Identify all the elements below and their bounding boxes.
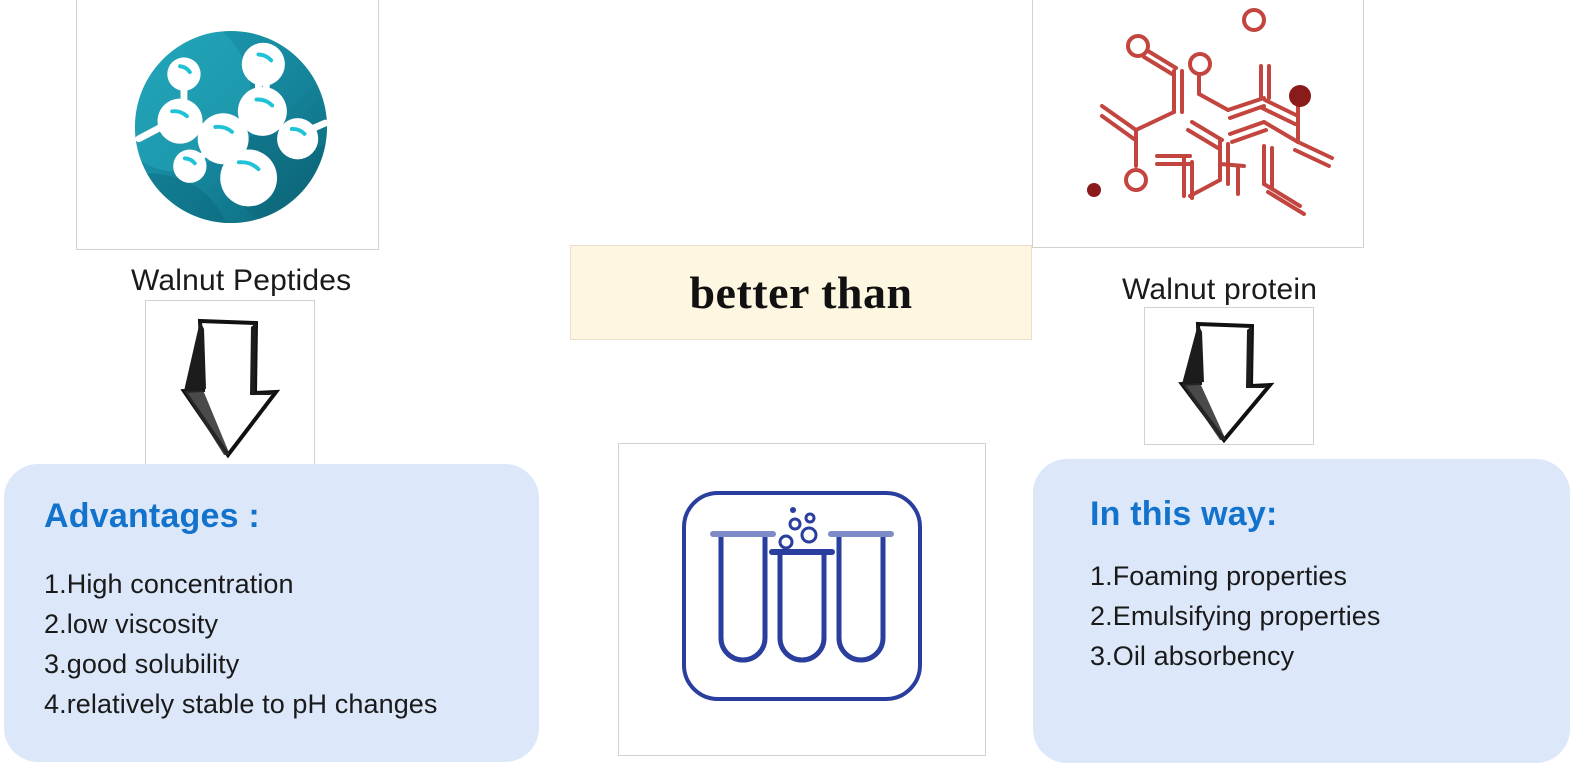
molecule-circle-icon: [133, 29, 329, 225]
walnut-protein-label: Walnut protein: [1122, 273, 1317, 307]
list-item: 2.Emulsifying properties: [1090, 596, 1381, 636]
advantages-card: Advantages : 1.High concentration 2.low …: [4, 464, 539, 762]
list-item: 3.Oil absorbency: [1090, 636, 1381, 676]
better-than-banner: better than: [570, 245, 1032, 340]
list-item: 2.low viscosity: [44, 604, 438, 644]
better-than-label: better than: [689, 266, 912, 319]
down-arrow-icon-right: [1176, 318, 1280, 444]
in-this-way-title: In this way:: [1090, 495, 1278, 534]
advantages-title: Advantages :: [44, 497, 260, 536]
advantages-list: 1.High concentration 2.low viscosity 3.g…: [44, 564, 438, 724]
in-this-way-card: In this way: 1.Foaming properties 2.Emul…: [1033, 459, 1570, 763]
walnut-peptides-label: Walnut Peptides: [131, 264, 351, 298]
test-tubes-icon: [681, 490, 923, 702]
in-this-way-list: 1.Foaming properties 2.Emulsifying prope…: [1090, 556, 1381, 676]
list-item: 1.High concentration: [44, 564, 438, 604]
list-item: 4.relatively stable to pH changes: [44, 684, 438, 724]
list-item: 1.Foaming properties: [1090, 556, 1381, 596]
down-arrow-icon-left: [178, 315, 288, 460]
chemical-structure-icon: [1032, 0, 1364, 248]
list-item: 3.good solubility: [44, 644, 438, 684]
infographic-canvas: Walnut Peptides better than: [0, 0, 1570, 781]
